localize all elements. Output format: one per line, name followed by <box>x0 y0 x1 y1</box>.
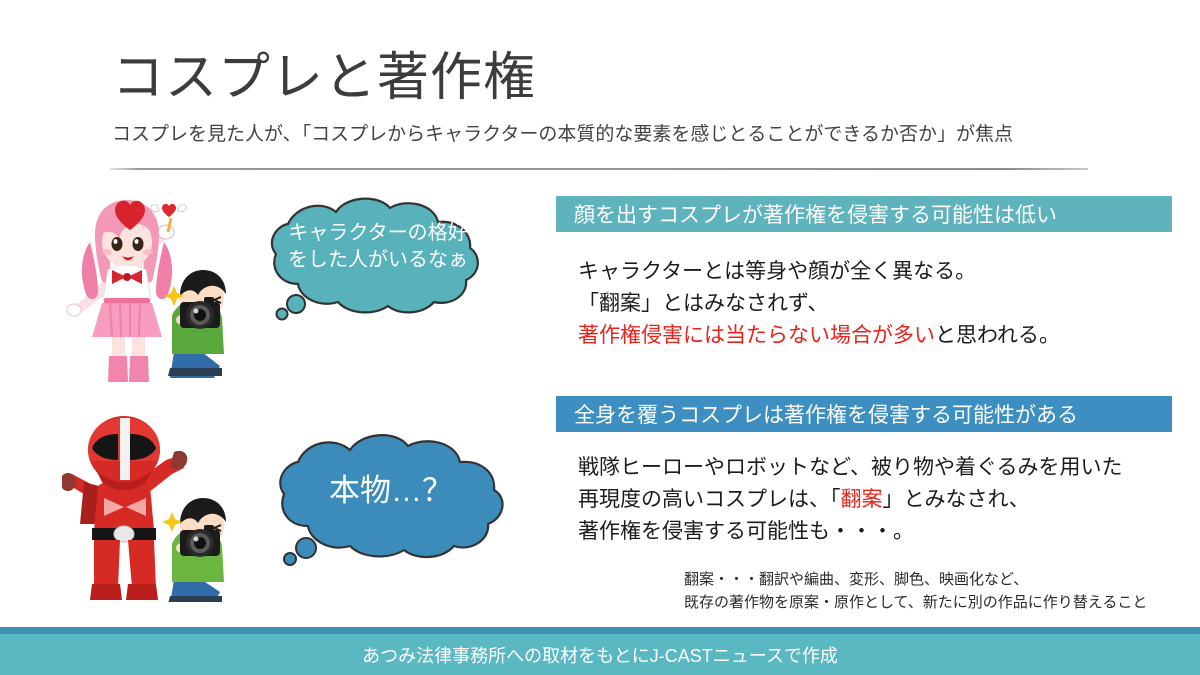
header-divider <box>110 168 1088 170</box>
slide-canvas: コスプレと著作権 コスプレを見た人が、「コスプレからキャラクターの本質的な要素を… <box>0 0 1200 675</box>
red-sentai-hero-icon <box>62 412 240 602</box>
section-2-emphasis: 翻案 <box>841 488 883 511</box>
magical-girl-cosplayer-icon <box>62 190 240 382</box>
section-2-heading-bar: 全身を覆うコスプレは著作権を侵害する可能性がある <box>556 396 1172 432</box>
thought-cloud-icon <box>232 432 550 570</box>
thought-bubble-2: 本物…？ <box>232 432 550 570</box>
section-1-heading-bar: 顔を出すコスプレが著作権を侵害する可能性は低い <box>556 196 1172 232</box>
section-2-body-line-1: 戦隊ヒーローやロボットなど、被り物や着ぐるみを用いた <box>578 452 1123 484</box>
section-1-emphasis: 著作権侵害には当たらない場合が多い <box>578 324 935 347</box>
section-1-heading-text: 顔を出すコスプレが著作権を侵害する可能性は低い <box>574 199 1057 229</box>
footer-credit: あつみ法律事務所への取材をもとにJ-CASTニュースで作成 <box>0 634 1200 675</box>
section-1-body-line-3-suffix: と思われる。 <box>935 324 1060 347</box>
section-2-body-line-2-pre: 再現度の高いコスプレは、「 <box>578 488 841 511</box>
page-title: コスプレと著作権 <box>112 48 536 109</box>
section-2-body-line-2-post: 」とみなされ、 <box>883 488 1030 511</box>
footer-band: あつみ法律事務所への取材をもとにJ-CASTニュースで作成 <box>0 627 1200 675</box>
footer-stripe <box>0 627 1200 634</box>
illustration-magical-girl-and-photographer <box>62 190 240 382</box>
section-2-body-line-2: 再現度の高いコスプレは、「翻案」とみなされ、 <box>578 484 1123 516</box>
footnote-line-2: 既存の著作物を原案・原作として、新たに別の作品に作り替えること <box>684 591 1147 614</box>
page-subtitle: コスプレを見た人が、「コスプレからキャラクターの本質的な要素を感じとることができ… <box>112 124 1013 147</box>
thought-cloud-icon <box>228 196 528 326</box>
section-2-heading-text: 全身を覆うコスプレは著作権を侵害する可能性がある <box>574 399 1078 429</box>
thought-bubble-1: キャラクターの格好 をした人がいるなぁ <box>228 196 528 326</box>
footnote: 翻案・・・翻訳や編曲、変形、脚色、映画化など、 既存の著作物を原案・原作として、… <box>684 568 1147 615</box>
section-1-body-line-2: 「翻案」とはみなされず、 <box>578 288 1060 320</box>
illustration-sentai-hero-and-photographer <box>62 412 240 602</box>
footnote-line-1: 翻案・・・翻訳や編曲、変形、脚色、映画化など、 <box>684 568 1147 591</box>
section-1-body-line-1: キャラクターとは等身や顔が全く異なる。 <box>578 256 1060 288</box>
section-1-body-line-3: 著作権侵害には当たらない場合が多いと思われる。 <box>578 320 1060 352</box>
section-1-body: キャラクターとは等身や顔が全く異なる。 「翻案」とはみなされず、 著作権侵害には… <box>578 256 1060 352</box>
section-2-body: 戦隊ヒーローやロボットなど、被り物や着ぐるみを用いた 再現度の高いコスプレは、「… <box>578 452 1123 548</box>
section-2-body-line-3: 著作権を侵害する可能性も・・・。 <box>578 516 1123 548</box>
